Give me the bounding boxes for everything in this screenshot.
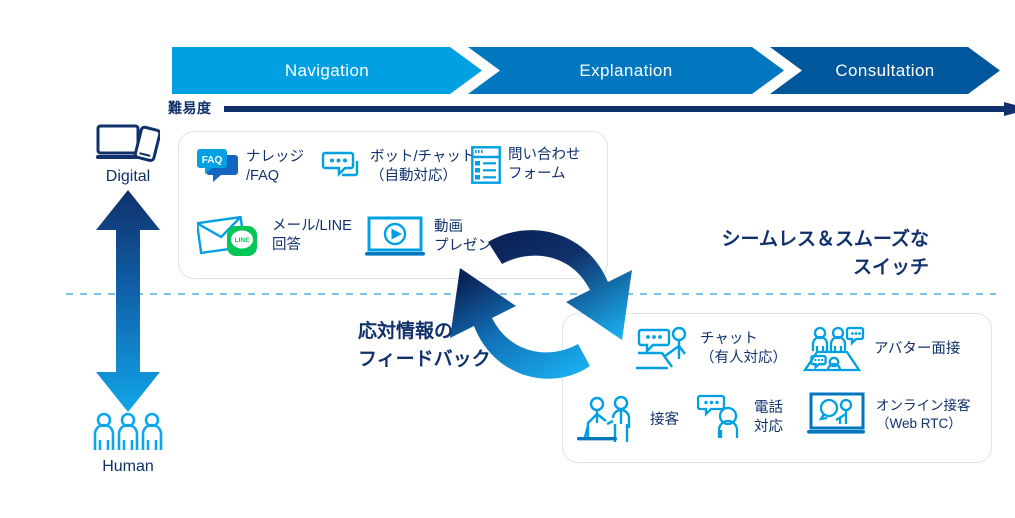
- axis-top-label: Digital: [78, 168, 178, 186]
- mail-line-icon: LINE: [197, 216, 265, 256]
- svg-text:LINE: LINE: [235, 237, 250, 244]
- axis-bottom-label: Human: [78, 458, 178, 476]
- channel-item-label: ボット/チャット （自動対応）: [370, 148, 475, 186]
- svg-text:FAQ: FAQ: [202, 155, 223, 166]
- double-headed-vertical-arrow-icon: [94, 190, 162, 412]
- channel-item-in-person-service[interactable]: 接客: [577, 396, 679, 446]
- difficulty-arrow-icon: [224, 102, 1015, 116]
- channel-item-bot-chat[interactable]: ボット/チャット （自動対応）: [321, 148, 475, 186]
- channel-item-label: 接客: [650, 411, 679, 430]
- inquiry-form-icon: [471, 146, 501, 184]
- channel-item-avatar-interview[interactable]: アバター面接: [803, 326, 960, 374]
- phase-band: Navigation Explanation Consultation: [172, 47, 1000, 94]
- channel-item-label: アバター面接: [874, 340, 960, 359]
- phase-chevron-consultation[interactable]: Consultation: [770, 47, 1000, 94]
- two-people-service-icon: [577, 396, 643, 446]
- digital-human-axis: Digital: [78, 124, 178, 480]
- channel-item-label: ナレッジ /FAQ: [246, 148, 304, 186]
- avatar-interview-icon: [803, 326, 867, 374]
- phase-chevron-navigation[interactable]: Navigation: [172, 47, 482, 94]
- phone-support-icon: [697, 394, 747, 442]
- callout-switch-text: シームレス＆スムーズな スイッチ: [722, 229, 929, 278]
- channel-item-label: オンライン接客 （Web RTC）: [876, 397, 971, 433]
- diagram-canvas: Navigation Explanation Consultation 難易度: [0, 0, 1015, 518]
- channel-item-knowledge-faq[interactable]: FAQ ナレッジ /FAQ: [197, 148, 304, 186]
- online-service-laptop-icon: [807, 392, 869, 438]
- three-people-icon: [91, 412, 165, 452]
- channel-item-inquiry-form[interactable]: 問い合わせ フォーム: [471, 146, 581, 184]
- channel-item-label: 問い合わせ フォーム: [508, 146, 581, 184]
- difficulty-axis-label: 難易度: [168, 98, 212, 118]
- channel-item-mail-line[interactable]: LINE メール/LINE 回答: [197, 216, 352, 256]
- difficulty-axis: 難易度: [168, 98, 968, 120]
- callout-feedback: 応対情報の フィードバック: [358, 318, 588, 373]
- channel-item-label: メール/LINE 回答: [272, 217, 352, 255]
- channel-item-label: 電話 対応: [754, 399, 783, 437]
- channel-item-phone-support[interactable]: 電話 対応: [697, 394, 783, 442]
- laptop-smartphone-icon: [96, 124, 160, 166]
- callout-feedback-text: 応対情報の フィードバック: [358, 321, 491, 370]
- channel-item-label: チャット （有人対応）: [700, 330, 787, 368]
- phase-label: Navigation: [285, 61, 369, 81]
- callout-seamless-switch: シームレス＆スムーズな スイッチ: [629, 226, 929, 281]
- phase-label: Consultation: [835, 61, 934, 81]
- phase-chevron-explanation[interactable]: Explanation: [468, 47, 784, 94]
- channel-item-online-service[interactable]: オンライン接客 （Web RTC）: [807, 392, 971, 438]
- video-play-laptop-icon: [365, 216, 427, 258]
- phase-label: Explanation: [579, 61, 672, 81]
- faq-speech-bubble-icon: FAQ: [197, 149, 239, 185]
- bot-chat-bubble-icon: [321, 149, 363, 185]
